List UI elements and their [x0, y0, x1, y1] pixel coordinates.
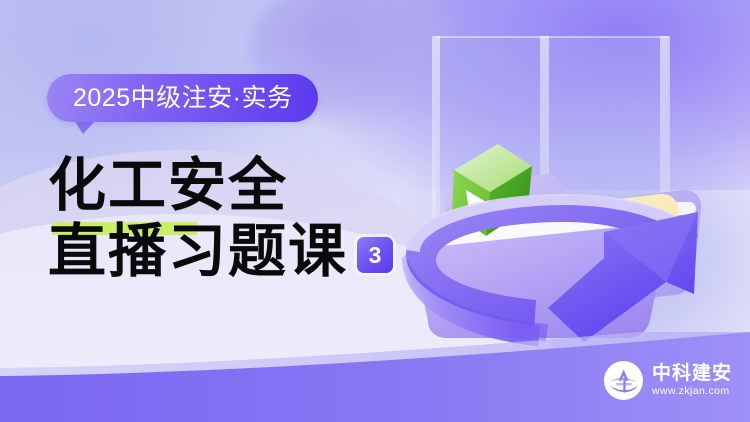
course-category-label: 2025中级注安·实务	[73, 86, 292, 111]
text-content: 2025中级注安·实务 化工安全 直播习题课 3	[0, 0, 460, 422]
headline-line-2-text: 直播习题课	[48, 222, 348, 281]
headline-line-2: 直播习题课 3	[48, 222, 468, 281]
logo-text-group: 中科建安 www.zkjan.com	[652, 364, 732, 397]
brand-logo[interactable]: 中科建安 www.zkjan.com	[604, 361, 732, 400]
course-category-badge[interactable]: 2025中级注安·实务	[47, 74, 318, 122]
badge-tail	[74, 120, 96, 134]
episode-number-badge: 3	[357, 237, 393, 273]
course-banner: 2025中级注安·实务 化工安全 直播习题课 3	[0, 0, 750, 422]
page-title: 化工安全 直播习题课 3	[48, 156, 468, 281]
headline-line-1: 化工安全	[48, 156, 468, 215]
logo-brand-name: 中科建安	[652, 364, 732, 383]
headline-line-1-text: 化工安全	[48, 156, 288, 215]
zkjan-logo-icon	[604, 361, 643, 400]
logo-website-url: www.zkjan.com	[652, 386, 732, 397]
